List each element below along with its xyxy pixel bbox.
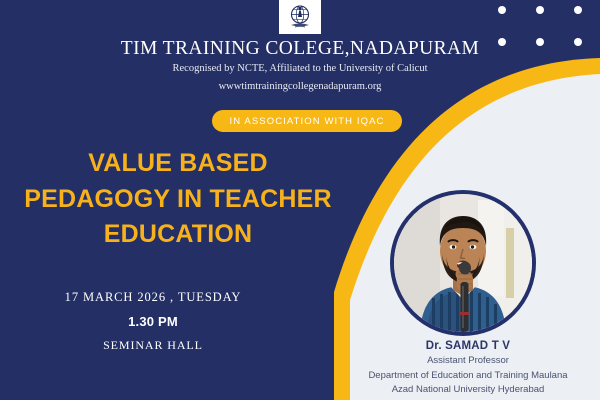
event-venue: SEMINAR HALL bbox=[8, 338, 298, 353]
speaker-department-line-2: Azad National University Hyderabad bbox=[336, 383, 600, 397]
decorative-dot bbox=[536, 6, 544, 14]
college-name: TIM TRAINING COLEGE,NADAPURAM bbox=[0, 38, 600, 60]
decorative-dot bbox=[498, 6, 506, 14]
speaker-photo bbox=[390, 190, 536, 336]
decorative-dot bbox=[574, 6, 582, 14]
speaker-photo-image bbox=[394, 194, 532, 332]
poster-title: VALUE BASED PEDAGOGY IN TEACHER EDUCATIO… bbox=[8, 146, 348, 253]
event-time: 1.30 PM bbox=[8, 314, 298, 329]
title-line-3: EDUCATION bbox=[8, 217, 348, 253]
association-badge: IN ASSOCIATION WITH IQAC bbox=[212, 110, 402, 132]
college-logo bbox=[279, 0, 321, 34]
speaker-portrait-illustration bbox=[394, 194, 532, 332]
speaker-department: Department of Education and Training Mau… bbox=[336, 369, 600, 397]
title-line-1: VALUE BASED bbox=[8, 146, 348, 182]
website-line: wwwtimtrainingcollegenadapuram.org bbox=[0, 81, 600, 92]
speaker-role: Assistant Professor bbox=[336, 355, 600, 366]
speaker-department-line-1: Department of Education and Training Mau… bbox=[336, 369, 600, 383]
event-date: 17 MARCH 2026 , TUESDAY bbox=[8, 290, 298, 305]
title-line-2: PEDAGOGY IN TEACHER bbox=[8, 182, 348, 218]
speaker-name: Dr. SAMAD T V bbox=[336, 340, 600, 352]
poster-canvas: TIM TRAINING COLEGE,NADAPURAM Recognised… bbox=[0, 0, 600, 400]
accreditation-line: Recognised by NCTE, Affiliated to the Un… bbox=[0, 63, 600, 74]
speaker-caption: Dr. SAMAD T V Assistant Professor Depart… bbox=[336, 340, 600, 397]
event-details: 17 MARCH 2026 , TUESDAY 1.30 PM SEMINAR … bbox=[8, 290, 298, 353]
globe-torch-emblem-icon bbox=[285, 2, 315, 32]
association-badge-label: IN ASSOCIATION WITH IQAC bbox=[229, 116, 384, 127]
